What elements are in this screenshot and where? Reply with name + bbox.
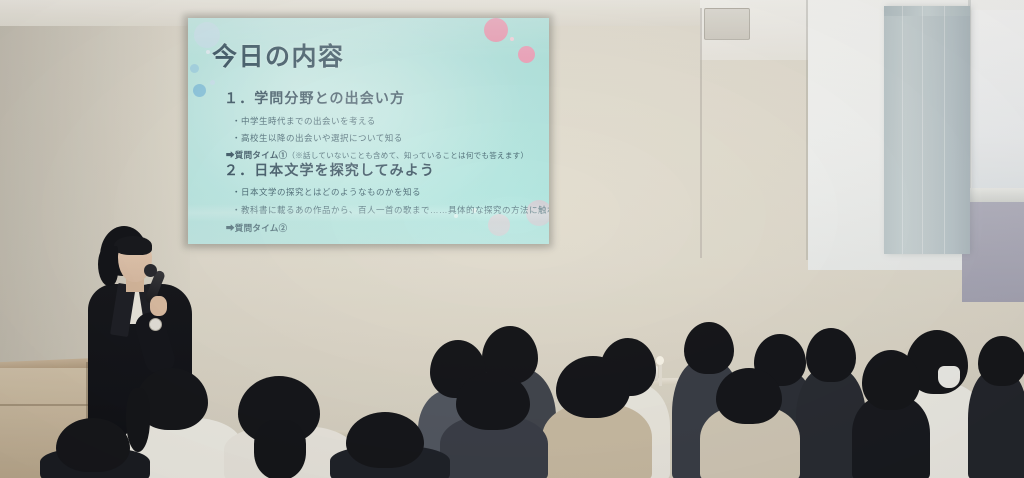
microphone-icon (656, 356, 664, 365)
presenter-hair-side (98, 246, 118, 286)
slide-section-1-heading: １．学問分野との出会い方 (224, 88, 405, 108)
air-vent (704, 8, 750, 40)
wall-seam (700, 8, 702, 258)
audience-member-head (862, 350, 920, 410)
question-time-label-1: ➡質問タイム① (226, 150, 287, 160)
curtain-fold (944, 6, 945, 254)
hair-ponytail (126, 388, 150, 452)
audience-member-head (556, 356, 630, 418)
slide-section-1-bullet-2: ・高校生以降の出会いや選択について知る (232, 132, 403, 144)
audience-member-head (456, 372, 530, 430)
audience-member-head (978, 336, 1024, 386)
slide-title: 今日の内容 (212, 37, 345, 73)
projection-screen: 今日の内容 １．学問分野との出会い方 ・中学生時代までの出会いを考える ・高校生… (188, 18, 549, 244)
slide-content: 今日の内容 １．学問分野との出会い方 ・中学生時代までの出会いを考える ・高校生… (188, 18, 549, 244)
classroom-presentation-photo: 今日の内容 １．学問分野との出会い方 ・中学生時代までの出会いを考える ・高校生… (0, 0, 1024, 478)
presenter-badge (149, 318, 162, 331)
audience-member-head (346, 412, 424, 468)
audience-member-head (716, 368, 782, 424)
hair-ponytail (254, 420, 306, 478)
window-lower-pane (962, 202, 1024, 302)
question-time-note-1: （※話していないことも含めて、知っていることは何でも答えます） (287, 151, 528, 160)
slide-section-2-heading: ２．日本文学を探究してみよう (224, 160, 435, 180)
window-glare (972, 10, 1024, 190)
curtain-fold (902, 6, 903, 254)
slide-section-2-bullet-1: ・日本文学の探究とはどのようなものかを知る (232, 186, 421, 198)
audience-member-head (56, 418, 130, 472)
question-time-label-2: ➡質問タイム② (226, 223, 287, 233)
audience-member-head (806, 328, 856, 382)
slide-section-1-bullet-1: ・中学生時代までの出会いを考える (232, 115, 376, 127)
curtain-fold (922, 6, 923, 254)
slide-section-2-question-time: ➡質問タイム② (226, 222, 287, 234)
microphone-capsule-icon (144, 264, 157, 277)
curtain (884, 6, 970, 254)
slide-section-2-bullet-2: ・教科書に載るあの作品から、百人一首の歌まで……具体的な探究の方法に触れる (232, 204, 549, 216)
face-mask-icon (938, 366, 960, 388)
presenter-hand (150, 296, 167, 316)
curtain-rail (884, 6, 970, 16)
presenter-hair-front (114, 236, 152, 255)
audience-member-head (684, 322, 734, 374)
audience-member-body (968, 370, 1024, 478)
